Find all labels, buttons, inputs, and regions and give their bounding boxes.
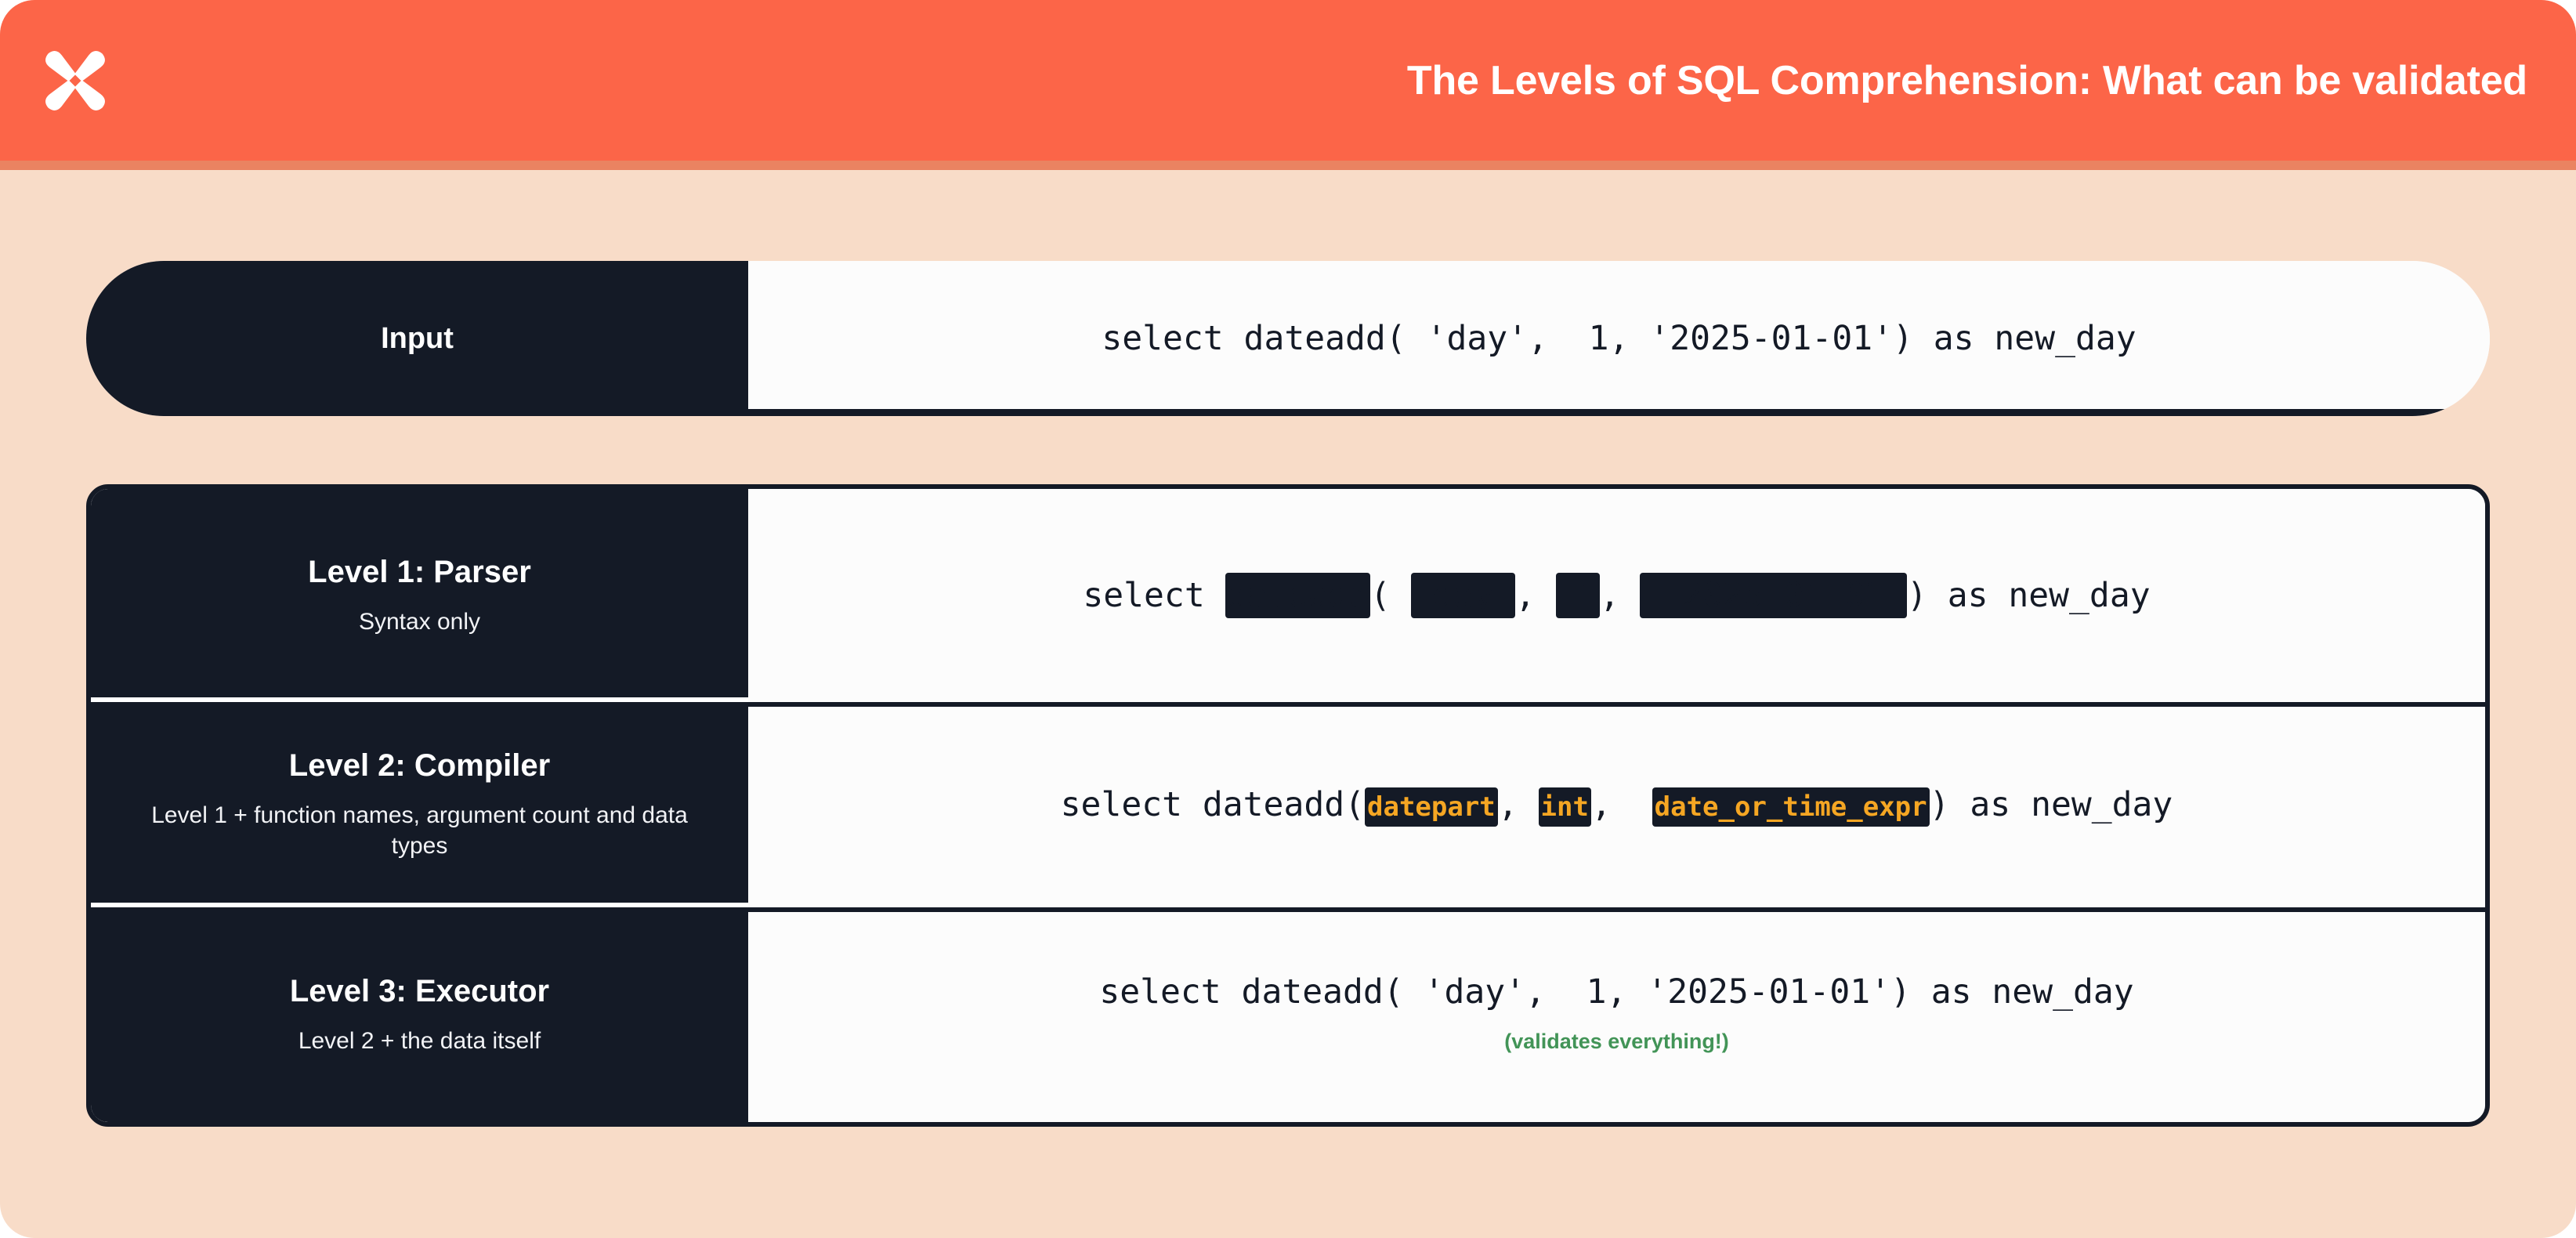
input-label: Input: [381, 322, 454, 356]
table-row: Level 1: Parser Syntax only select datea…: [91, 489, 2485, 702]
page-title: The Levels of SQL Comprehension: What ca…: [1407, 57, 2527, 104]
code-token: select dateadd( 'day', 1, '2025-01-01') …: [1099, 972, 2133, 1012]
x-logo-icon: [38, 43, 113, 118]
level-1-subtitle: Syntax only: [359, 606, 480, 637]
header-divider: [0, 161, 2576, 170]
level-2-code-cell: select dateadd(datepart, int, date_or_ti…: [748, 702, 2485, 907]
type-token: datepart: [1365, 787, 1498, 827]
input-label-cell: Input: [86, 261, 748, 416]
redacted-token: '2025-01-01': [1640, 573, 1907, 618]
level-3-title: Level 3: Executor: [290, 974, 549, 1008]
levels-table: Level 1: Parser Syntax only select datea…: [86, 484, 2490, 1127]
table-row: Level 2: Compiler Level 1 + function nam…: [91, 702, 2485, 907]
code-token: ,: [1498, 785, 1539, 824]
type-token: int: [1539, 787, 1591, 827]
type-token: date_or_time_expr: [1652, 787, 1930, 827]
input-sql-code: select dateadd( 'day', 1, '2025-01-01') …: [1102, 322, 2136, 356]
input-code-cell: select dateadd( 'day', 1, '2025-01-01') …: [748, 261, 2490, 416]
code-token: ) as new_day: [1930, 785, 2173, 824]
code-token: select dateadd( 'day', 1, '2025-01-01') …: [1102, 319, 2136, 358]
level-3-code-cell: select dateadd( 'day', 1, '2025-01-01') …: [748, 907, 2485, 1122]
code-token: ,: [1515, 576, 1556, 615]
header-bar: The Levels of SQL Comprehension: What ca…: [0, 0, 2576, 161]
code-token: ,: [1591, 785, 1652, 824]
level-3-label-cell: Level 3: Executor Level 2 + the data its…: [91, 907, 748, 1122]
input-row: Input select dateadd( 'day', 1, '2025-01…: [86, 261, 2490, 416]
level-1-title: Level 1: Parser: [308, 555, 531, 589]
level-2-sql-code: select dateadd(datepart, int, date_or_ti…: [1061, 788, 2173, 822]
level-1-code-cell: select dateadd( 'day', 1, '2025-01-01') …: [748, 489, 2485, 702]
redacted-token: dateadd: [1225, 573, 1370, 618]
level-2-title: Level 2: Compiler: [289, 748, 550, 783]
code-token: select dateadd(: [1061, 785, 1365, 824]
level-1-label-cell: Level 1: Parser Syntax only: [91, 489, 748, 702]
level-2-label-cell: Level 2: Compiler Level 1 + function nam…: [91, 702, 748, 907]
level-3-subtitle: Level 2 + the data itself: [298, 1026, 541, 1056]
redacted-token: 1: [1556, 573, 1600, 618]
level-3-annotation: (validates everything!): [1504, 1030, 1729, 1054]
level-1-sql-code: select dateadd( 'day', 1, '2025-01-01') …: [1083, 579, 2150, 613]
code-token: ) as new_day: [1907, 576, 2151, 615]
code-token: ,: [1600, 576, 1641, 615]
code-token: select: [1083, 576, 1225, 615]
code-token: (: [1370, 576, 1411, 615]
table-row: Level 3: Executor Level 2 + the data its…: [91, 907, 2485, 1122]
level-3-sql-code: select dateadd( 'day', 1, '2025-01-01') …: [1099, 976, 2133, 1009]
redacted-token: 'day': [1411, 573, 1515, 618]
level-2-subtitle: Level 1 + function names, argument count…: [146, 800, 694, 861]
infographic-card: The Levels of SQL Comprehension: What ca…: [0, 0, 2576, 1238]
